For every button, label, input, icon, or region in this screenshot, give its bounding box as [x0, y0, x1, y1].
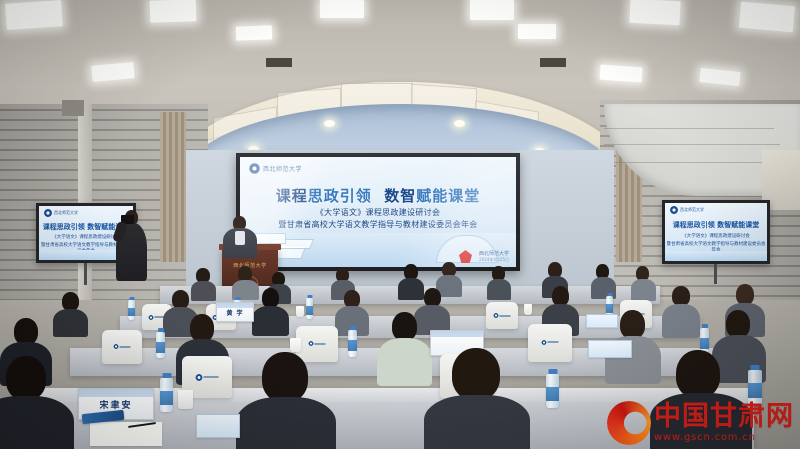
university-name-label: 西北师范大学: [680, 207, 704, 213]
bottle-cap: [350, 326, 356, 330]
attendee-head: [676, 350, 720, 398]
ceiling-light-panel: [236, 25, 272, 40]
left-curtain: [160, 112, 186, 262]
attendee-body: [398, 278, 424, 300]
headline-segment-4: 赋能课堂: [416, 187, 480, 205]
placard-header-band: [217, 303, 253, 308]
attendee-body: [236, 397, 336, 449]
chair-cover: [102, 330, 142, 364]
conference-hall-photo: 西北师范大学 课程思政引领 数智赋能课堂 《大学语文》课程思政建设研讨会 暨甘肃…: [0, 0, 800, 449]
balcony-line: [604, 162, 786, 163]
attendee-head: [552, 286, 569, 306]
bottle-cap: [702, 324, 708, 328]
attendee-body: [0, 396, 74, 449]
bottle-cap: [307, 295, 312, 298]
main-screen-subtitle-1: 《大学语文》课程思政建设研讨会: [240, 207, 516, 218]
watermark-logo: 中国甘肃网 www.gscn.com.cn: [607, 401, 794, 445]
bottle-cap: [129, 297, 134, 300]
headline-segment-3: 数智: [384, 187, 416, 205]
ceiling-light-panel: [629, 0, 680, 25]
attendee-head: [620, 310, 645, 339]
bottle-cap: [751, 365, 760, 370]
chair-logo-icon: [196, 374, 219, 381]
notepad: [90, 422, 162, 446]
vault-spotlight: [324, 120, 335, 127]
gscn-swirl-icon: [607, 401, 651, 445]
attendee-head: [392, 312, 417, 341]
speaker-at-podium: [220, 216, 260, 256]
balcony-line: [604, 144, 780, 145]
attendee-head: [6, 356, 46, 400]
placard-name-text: 宋聿安: [99, 398, 132, 411]
attendee-head: [736, 284, 754, 305]
watermark-text-block: 中国甘肃网 www.gscn.com.cn: [654, 403, 794, 443]
watermark-brand-name: 中国甘肃网: [654, 403, 794, 430]
water-bottle: [156, 332, 165, 358]
attendee-body: [377, 338, 432, 386]
bottle-label: [128, 308, 135, 316]
ceiling-light-panel: [150, 0, 197, 23]
university-name-label: 西北师范大学: [263, 164, 302, 173]
water-bottle: [160, 378, 173, 412]
main-screen-credit: 西北师范大学 2024年4月25日: [479, 251, 509, 262]
bottle-label: [748, 383, 762, 398]
bottle-cap: [158, 328, 164, 332]
ceiling-light-panel: [739, 2, 795, 33]
bottle-label: [156, 342, 165, 353]
bottle-label: [160, 391, 173, 405]
attendee-body: [662, 304, 700, 338]
handout-leaflet: [196, 414, 240, 438]
attendee-head: [726, 310, 750, 338]
attendee-head: [262, 352, 308, 402]
watermark-url: www.gscn.com.cn: [654, 432, 756, 443]
attendee-body: [631, 279, 656, 301]
main-led-screen[interactable]: 西北师范大学 课程思政引领 数智赋能课堂 《大学语文》课程思政建设研讨会 暨甘肃…: [236, 153, 520, 271]
attendee-head: [14, 318, 38, 345]
attendee-head: [452, 348, 500, 400]
left-display-stand: [84, 263, 87, 285]
bottle-label: [546, 387, 559, 401]
ceiling-light-panel: [5, 0, 63, 30]
speaker-shirt: [235, 231, 245, 245]
photographer-left: [112, 210, 150, 282]
main-screen-bottom-artwork: [240, 233, 516, 267]
chair-logo-icon: [542, 340, 559, 345]
attendee-body: [424, 395, 530, 449]
water-bottle: [128, 300, 135, 320]
chair-cover: [486, 302, 518, 329]
water-bottle: [348, 330, 357, 357]
university-emblem-icon: [670, 206, 678, 214]
right-display-headline: 课程思政引领 数智赋能课堂: [665, 220, 767, 230]
university-name-label: 西北师范大学: [54, 210, 78, 216]
chair-logo-icon: [309, 341, 326, 346]
paper-cup: [290, 338, 301, 352]
main-screen-subtitle-2: 暨甘肃省高校大学语文教学指导与教材建设委员会年会: [240, 219, 516, 230]
right-side-display[interactable]: 西北师范大学 课程思政引领 数智赋能课堂 《大学语文》课程思政建设研讨会 暨甘肃…: [662, 200, 770, 264]
ceiling-light-panel: [320, 0, 364, 18]
attendee-body: [487, 279, 511, 300]
water-bottle: [546, 374, 559, 408]
attendee-body: [191, 281, 216, 301]
placard-name-text: 黄 学: [226, 308, 243, 317]
bottle-cap: [548, 369, 557, 374]
placard-header-band: [431, 331, 483, 337]
attendee-head: [262, 288, 279, 308]
bottle-label: [306, 306, 313, 315]
right-side-display-content: 西北师范大学 课程思政引领 数智赋能课堂 《大学语文》课程思政建设研讨会 暨甘肃…: [665, 203, 767, 261]
paper-cup: [524, 304, 532, 315]
vault-spotlight: [454, 120, 465, 127]
right-display-stand: [714, 264, 717, 284]
ceiling-light-panel: [518, 24, 556, 39]
bottle-label: [700, 338, 709, 349]
headline-segment-1: 课程: [276, 187, 308, 205]
balcony-line: [604, 128, 774, 129]
bottle-cap: [235, 297, 240, 300]
headline-segment-2: 思政引领: [308, 187, 372, 205]
paper-cup: [296, 306, 304, 317]
university-emblem-icon: [249, 163, 260, 174]
name-placard[interactable]: 黄 学: [216, 302, 254, 322]
water-bottle: [306, 298, 313, 319]
chair-cover: [528, 324, 572, 362]
placard-header-band: [79, 389, 153, 397]
attendee-head: [190, 314, 214, 342]
chair-logo-icon: [494, 313, 511, 318]
handout-leaflet: [588, 340, 632, 358]
university-emblem-icon: [44, 209, 52, 217]
handout-leaflet: [586, 314, 618, 328]
bottle-cap: [607, 293, 612, 296]
ceiling-light-panel: [470, 0, 514, 20]
right-display-subtitle-1: 《大学语文》课程思政建设研讨会: [665, 233, 767, 239]
main-screen-university-logo: 西北师范大学: [249, 163, 302, 174]
attendee-body: [53, 309, 88, 337]
main-screen-headline: 课程思政引领 数智赋能课堂: [240, 185, 516, 206]
credit-date: 2024年4月25日: [479, 257, 509, 262]
bottle-label: [606, 304, 613, 313]
bottle-cap: [162, 373, 171, 378]
left-wall-speaker-box: [62, 100, 84, 116]
chair-logo-icon: [114, 344, 131, 349]
bottle-label: [348, 340, 357, 351]
paper-cup: [178, 390, 193, 409]
main-screen-content: 西北师范大学 课程思政引领 数智赋能课堂 《大学语文》课程思政建设研讨会 暨甘肃…: [240, 157, 516, 267]
right-display-footer-art: [665, 251, 767, 261]
attendee-body: [252, 306, 289, 336]
attendee-head: [672, 286, 690, 306]
chair-cover: [296, 326, 338, 362]
